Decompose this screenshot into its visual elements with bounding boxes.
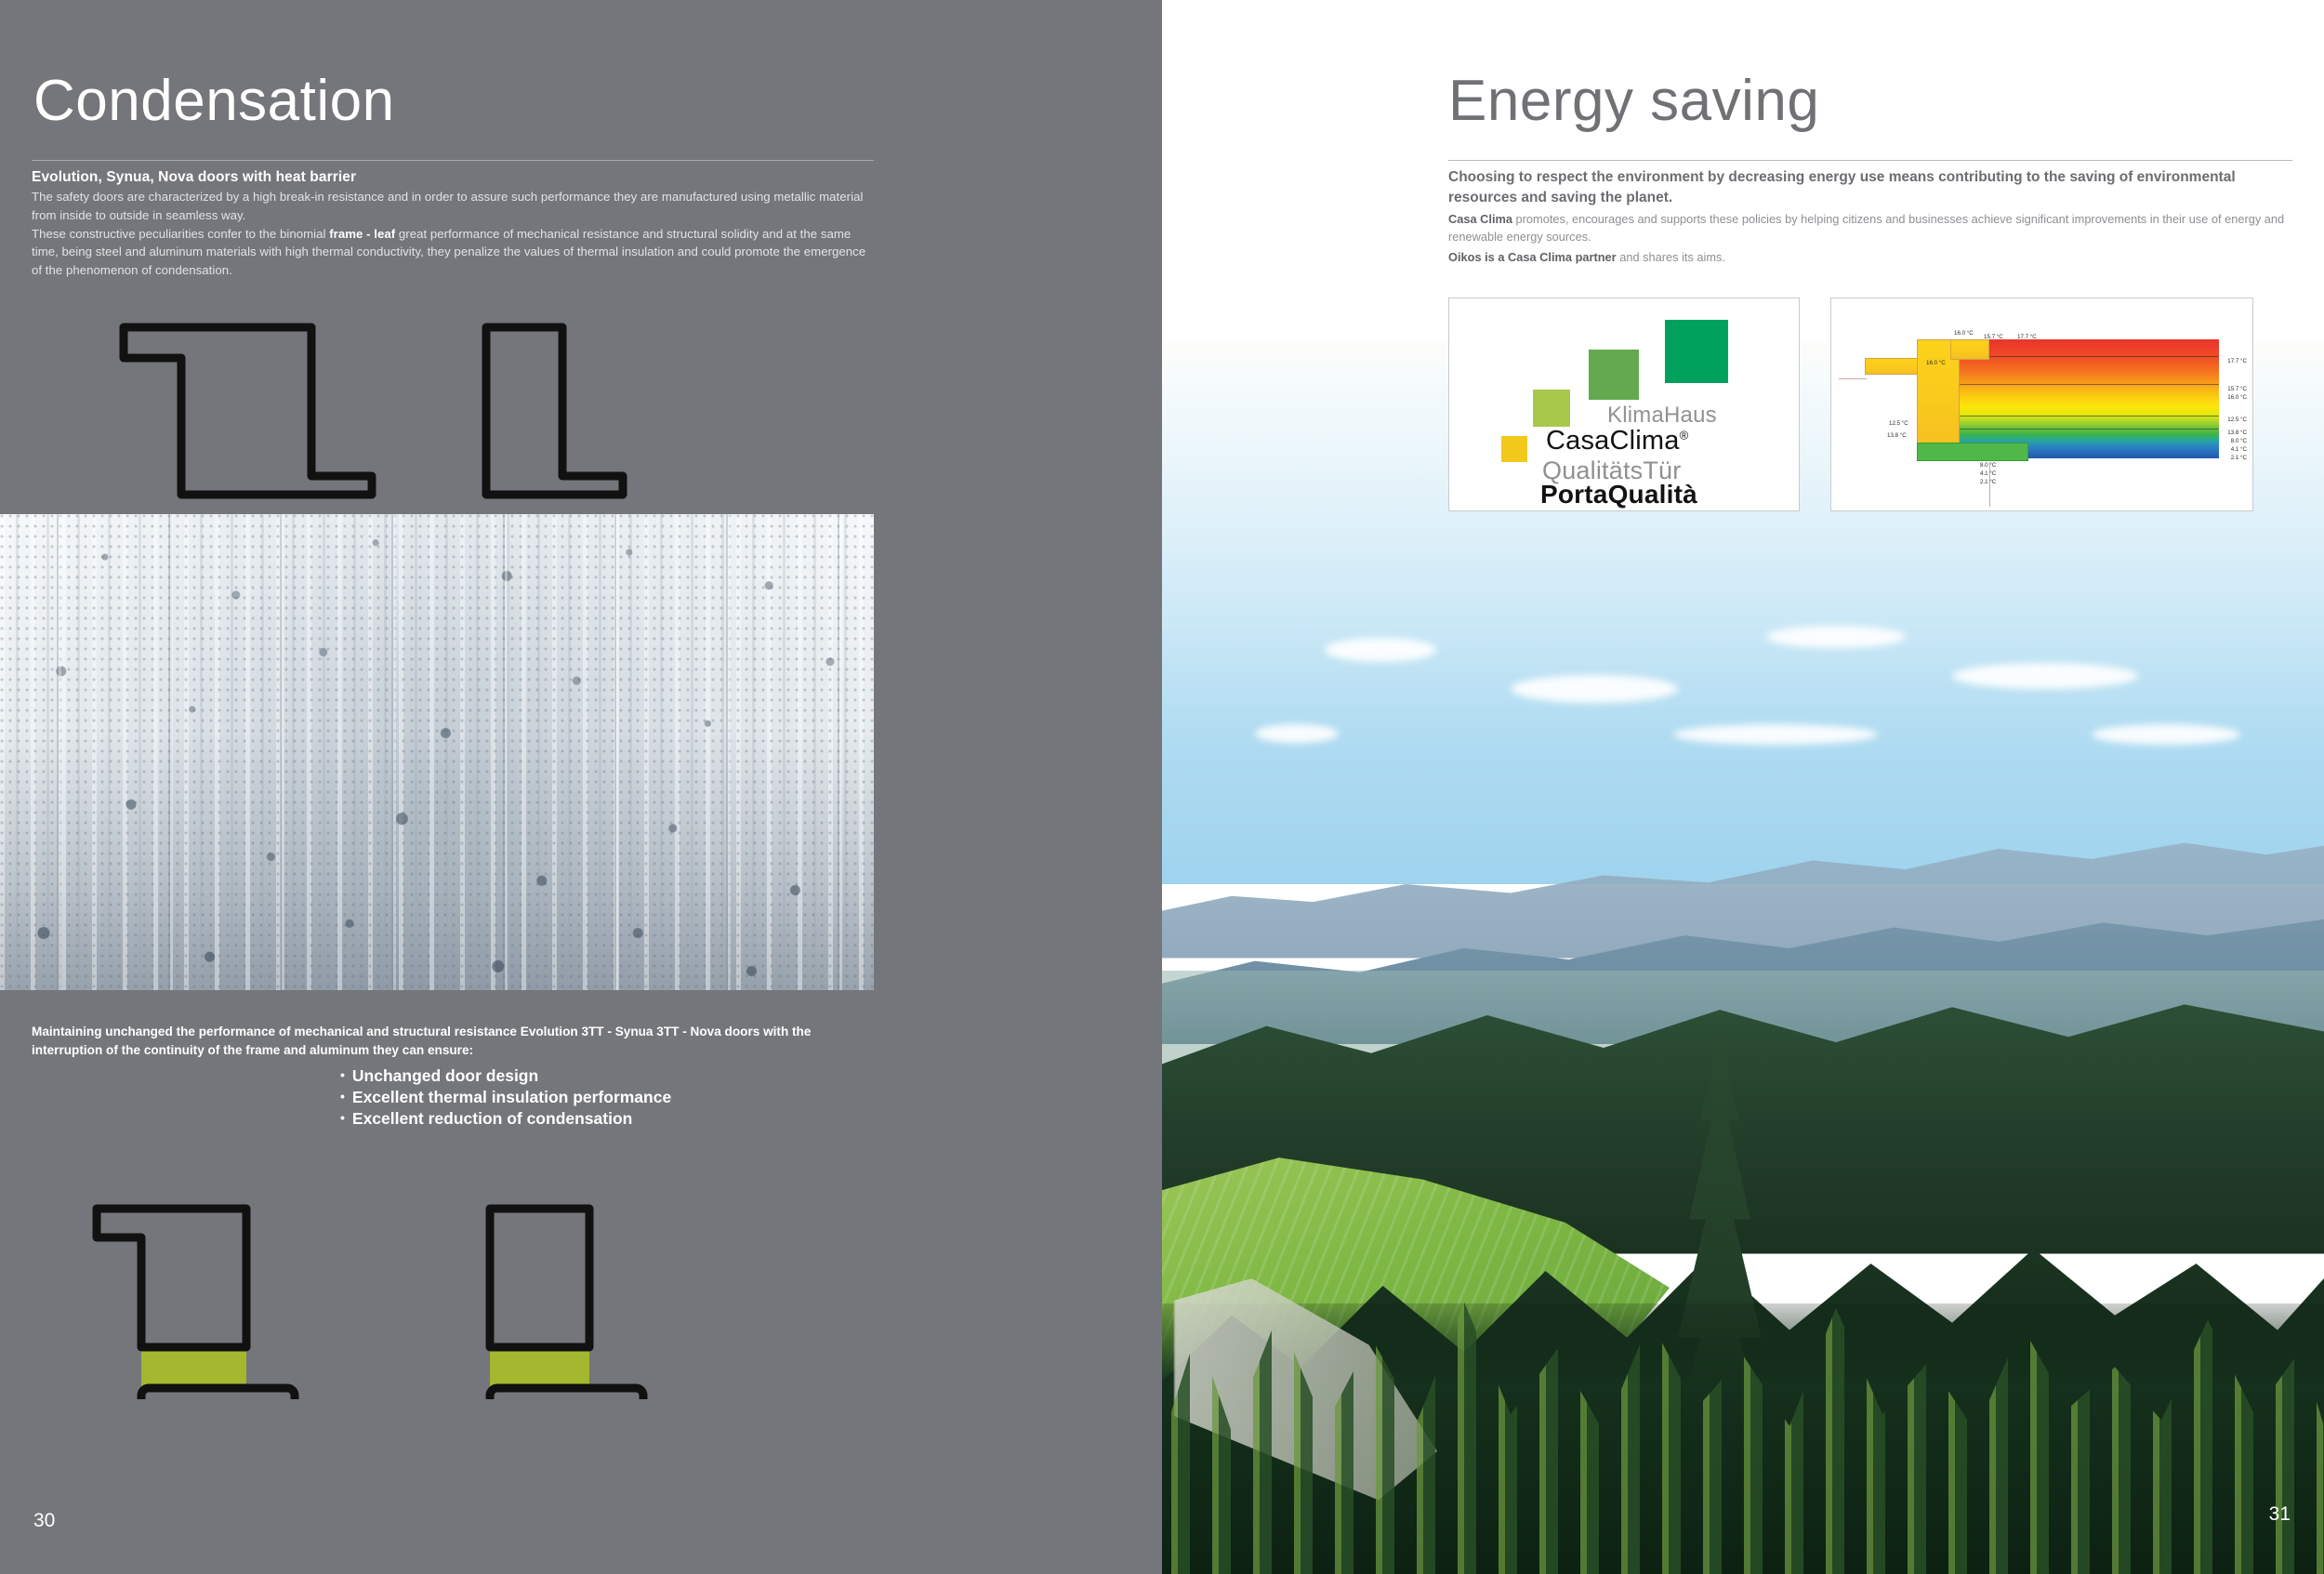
right-paragraph-1-rest: promotes, encourages and supports these … — [1448, 212, 2284, 244]
isotherm-label: 2.1 °C — [1980, 479, 1996, 485]
list-item: Unchanged door design — [32, 1065, 878, 1087]
logo-square-mid-green — [1589, 350, 1639, 400]
landscape-photo — [1162, 342, 2324, 1574]
right-lead-heading: Choosing to respect the environment by d… — [1448, 167, 2296, 208]
condensation-photo — [0, 514, 874, 990]
ensure-block: Maintaining unchanged the performance of… — [32, 1023, 878, 1131]
isotherm-label: 13.8 °C — [1887, 432, 1907, 439]
page-number-left: 30 — [33, 1510, 55, 1532]
isotherm-label: 16.0 °C — [1954, 330, 1974, 337]
left-paragraph-2: These constructive peculiarities confer … — [32, 225, 878, 280]
right-paragraph-2: Oikos is a Casa Clima partner and shares… — [1448, 248, 2296, 266]
cloud-icon — [2092, 724, 2240, 745]
left-page: Condensation Evolution, Synua, Nova door… — [0, 0, 1162, 1574]
right-paragraph-2-rest: and shares its aims. — [1617, 250, 1725, 264]
right-page: Energy saving Choosing to respect the en… — [1162, 0, 2324, 1574]
legend-label: 13.8 °C — [2227, 430, 2247, 436]
left-paragraph-2-bold: frame - leaf — [329, 227, 395, 241]
logo-square-dark-green — [1665, 320, 1728, 383]
logo-text-klimahaus: KlimaHaus — [1607, 403, 1717, 429]
isotherm-label: 4.1 °C — [1980, 470, 1996, 477]
registered-mark-icon: ® — [1680, 428, 1689, 442]
isotherm-line — [1950, 429, 2219, 430]
list-item: Excellent reduction of condensation — [32, 1108, 878, 1130]
cloud-icon — [1952, 663, 2138, 689]
list-item: Excellent thermal insulation performance — [32, 1087, 878, 1108]
isotherm-line — [1950, 416, 2219, 417]
cloud-icon — [1766, 626, 1906, 648]
profile-section-head — [1950, 339, 1989, 360]
title-divider-left — [32, 160, 874, 161]
isotherm-label: 15.7 °C — [1984, 334, 2003, 340]
axis-line-horizontal — [1839, 378, 1867, 379]
door-profile-diagram-top — [0, 298, 1162, 502]
profile-section-thermal-break — [1917, 443, 2028, 461]
logo-casaclima-word: CasaClima — [1546, 426, 1680, 456]
right-paragraph-1: Casa Clima promotes, encourages and supp… — [1448, 210, 2296, 246]
title-divider-right — [1448, 160, 2292, 161]
legend-label: 8.0 °C — [2231, 438, 2247, 444]
isotherm-label: 17.7 °C — [2017, 334, 2037, 340]
certification-panels: KlimaHaus CasaClima® QualitätsTür PortaQ… — [1448, 298, 2296, 511]
right-paragraph-2-bold: Oikos is a Casa Clima partner — [1448, 250, 1617, 264]
left-paragraph-2-pre: These constructive peculiarities confer … — [32, 227, 329, 241]
casaclima-logo-panel: KlimaHaus CasaClima® QualitätsTür PortaQ… — [1448, 298, 1800, 511]
legend-label: 17.7 °C — [2227, 358, 2247, 364]
door-profile-diagram-bottom — [0, 1185, 1162, 1399]
photo-runnels — [0, 514, 874, 990]
left-intro-text: Evolution, Synua, Nova doors with heat b… — [32, 167, 878, 280]
isotherm-label: 8.0 °C — [1980, 462, 1996, 469]
ensure-intro: Maintaining unchanged the performance of… — [32, 1023, 878, 1060]
legend-label: 2.1 °C — [2231, 455, 2247, 461]
cloud-icon — [1511, 675, 1678, 703]
cloud-icon — [1325, 638, 1436, 662]
thermal-simulation-panel: 16.0 °C 15.7 °C 17.7 °C 16.0 °C 12.5 °C … — [1830, 298, 2253, 511]
thermal-break-right — [490, 1345, 589, 1387]
logo-square-yellow — [1501, 436, 1527, 462]
legend-label: 15.7 °C — [2227, 386, 2247, 392]
left-lead-heading: Evolution, Synua, Nova doors with heat b… — [32, 167, 878, 188]
ensure-bullet-list: Unchanged door design Excellent thermal … — [32, 1065, 878, 1130]
isotherm-label: 12.5 °C — [1889, 420, 1908, 427]
page-title-condensation: Condensation — [33, 73, 395, 130]
legend-label: 12.5 °C — [2227, 417, 2247, 423]
page-title-energy-saving: Energy saving — [1448, 73, 1819, 130]
logo-text-portaqualita: PortaQualità — [1540, 480, 1697, 509]
logo-text-casaclima: CasaClima® — [1546, 426, 1688, 456]
left-paragraph-1: The safety doors are characterized by a … — [32, 188, 878, 225]
profile-svg-bottom — [0, 1185, 1162, 1399]
isotherm-line — [1950, 384, 2219, 385]
legend-label: 4.1 °C — [2231, 446, 2247, 453]
right-paragraph-1-bold: Casa Clima — [1448, 212, 1512, 226]
right-intro-text: Choosing to respect the environment by d… — [1448, 167, 2296, 266]
thermal-break-left — [141, 1345, 246, 1387]
cloud-icon — [1673, 724, 1878, 745]
legend-label: 16.0 °C — [2227, 394, 2247, 401]
cloud-icon — [1255, 724, 1339, 743]
isotherm-label: 16.0 °C — [1926, 360, 1946, 366]
profile-svg-top — [0, 298, 1162, 502]
isotherm-line — [1950, 356, 2219, 357]
logo-square-light-green — [1533, 390, 1570, 427]
thermal-heatmap-field — [1950, 339, 2219, 458]
page-number-right: 31 — [2269, 1503, 2291, 1526]
magazine-spread: Condensation Evolution, Synua, Nova door… — [0, 0, 2324, 1574]
